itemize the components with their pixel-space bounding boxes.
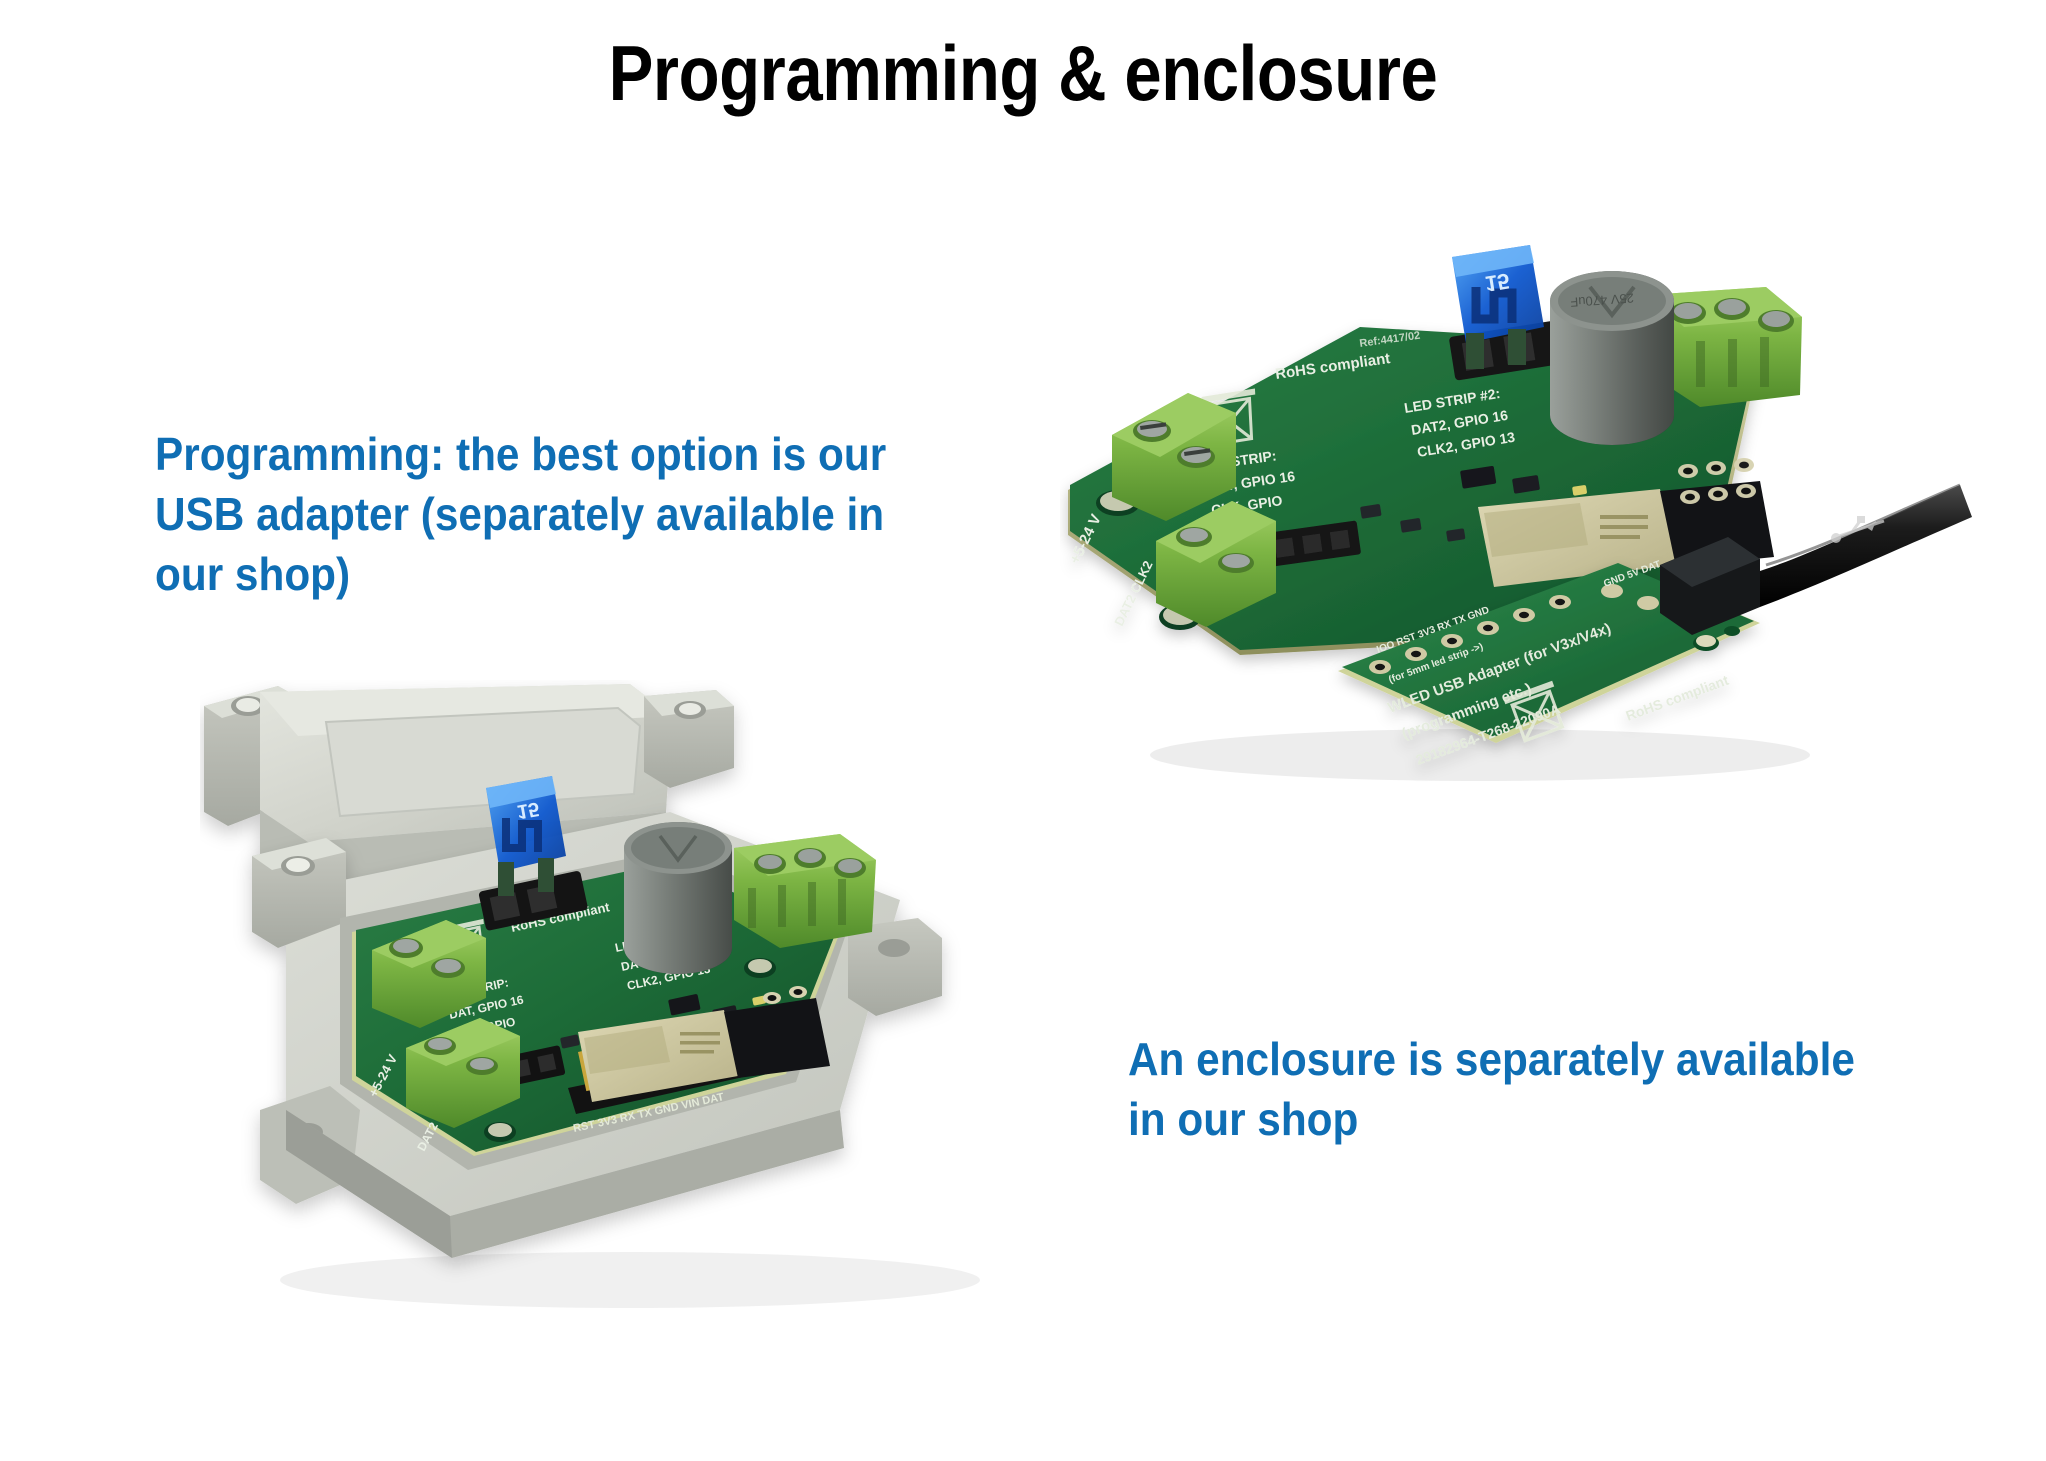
callout-programming-line-3: our shop) [155,545,827,605]
photo-controller-with-usb-adapter: RoHS compliant LED STRIP #2: DAT2, GPIO … [1060,235,1990,795]
callout-enclosure-line-2: in our shop [1128,1090,1892,1150]
callout-programming: Programming: the best option is our USB … [155,425,827,604]
shadow [280,1252,980,1308]
electrolytic-capacitor: 25V 470uF [1550,271,1674,445]
callout-programming-line-2: USB adapter (separately available in [155,485,827,545]
fuse-rating-label: 15 [515,797,541,823]
slide-canvas: Programming & enclosure [0,0,2046,1461]
terminal-block-right [734,834,876,948]
callout-enclosure-line-1: An enclosure is separately available [1128,1030,1892,1090]
fuse-rating-label: 15 [1483,268,1511,297]
callout-programming-line-1: Programming: the best option is our [155,425,827,485]
photo-enclosure-with-board: RoHS compliant LED STRIP #2: DAT2, GPIO … [200,680,1040,1320]
callout-enclosure: An enclosure is separately available in … [1128,1030,1892,1150]
adapter-silk-rohs: RoHS compliant [1624,672,1731,724]
electrolytic-capacitor [624,822,732,974]
page-title: Programming & enclosure [143,28,1903,119]
